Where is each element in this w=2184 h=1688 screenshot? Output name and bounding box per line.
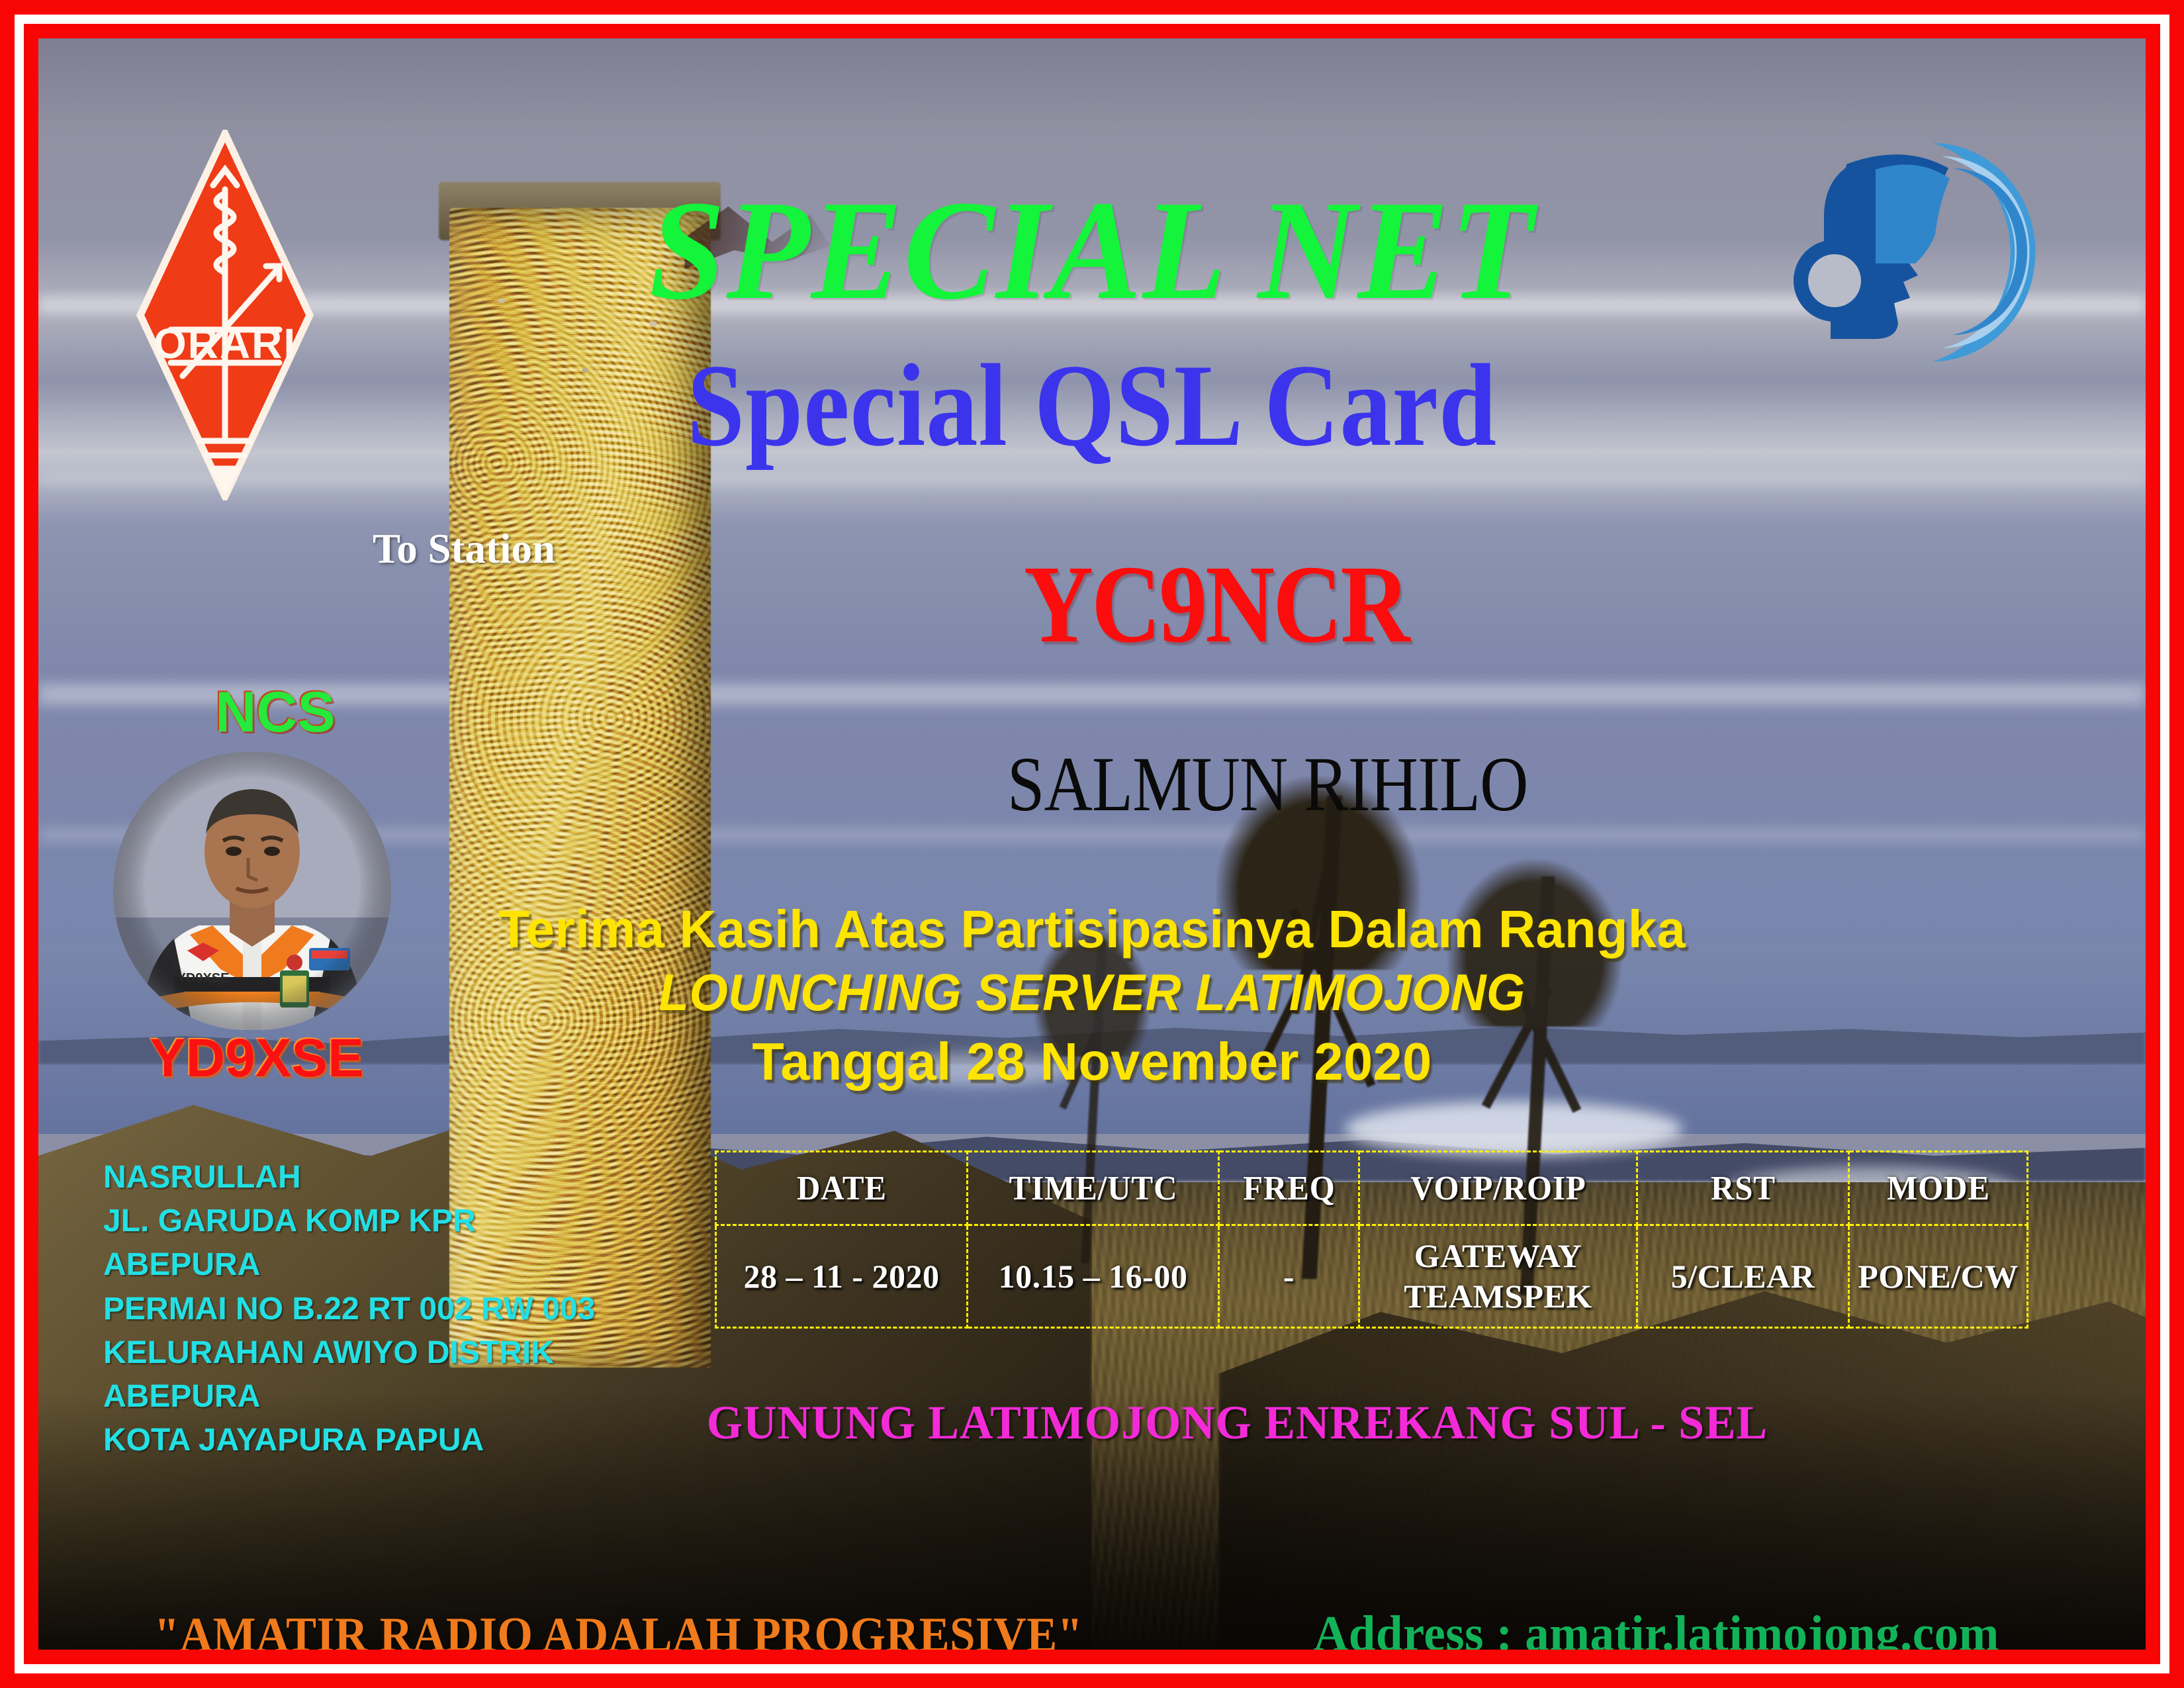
- cell-freq: -: [1219, 1225, 1359, 1328]
- address-line: KOTA JAYAPURA PAPUA: [103, 1419, 595, 1462]
- motto-text: "AMATIR RADIO ADALAH PROGRESIVE": [154, 1611, 1083, 1650]
- event-line-2: LOUNCHING SERVER LATIMOJONG: [81, 959, 2104, 1026]
- ncs-badge-label: NCS: [176, 684, 375, 741]
- cell-time: 10.15 – 16-00: [968, 1225, 1219, 1328]
- ncs-operator-photo: YD9XSE: [113, 752, 391, 1030]
- cell-rst: 5/CLEAR: [1637, 1225, 1849, 1328]
- address-line: ABEPURA: [103, 1243, 595, 1287]
- website-address: Address : amatir.latimojong.com: [1314, 1609, 1999, 1650]
- address-line: ABEPURA: [103, 1375, 595, 1419]
- page-title: SPECIAL NET: [81, 179, 2104, 321]
- location-caption: GUNUNG LATIMOJONG ENREKANG SUL - SEL: [707, 1399, 1768, 1446]
- ncs-callsign: YD9XSE: [118, 1031, 396, 1086]
- col-header-mode: MODE: [1854, 1152, 2023, 1225]
- address-block: NASRULLAH JL. GARUDA KOMP KPR ABEPURA PE…: [103, 1156, 595, 1463]
- qso-log-table: DATE TIME/UTC FREQ VOIP/ROIP RST MODE 28…: [715, 1150, 2028, 1329]
- operator-name: SALMUN RIHILO: [1007, 745, 1528, 823]
- to-station-label: To Station: [373, 528, 555, 570]
- col-header-freq: FREQ: [1223, 1152, 1355, 1225]
- cloud-streak: [38, 473, 2146, 485]
- address-line: NASRULLAH: [103, 1156, 595, 1199]
- col-header-time: TIME/UTC: [975, 1152, 1211, 1225]
- cell-voip-roip: GATEWAYTEAMSPEK: [1359, 1225, 1637, 1328]
- col-header-date: DATE: [723, 1152, 960, 1225]
- address-line: KELURAHAN AWIYO DISTRIK: [103, 1331, 595, 1375]
- table-header-row: DATE TIME/UTC FREQ VOIP/ROIP RST MODE: [716, 1152, 2028, 1225]
- station-callsign: YC9NCR: [1024, 549, 1408, 660]
- card-background-photo: ORARI SPECIAL NET Special QSL Card To St…: [38, 38, 2146, 1650]
- cell-mode: PONE/CW: [1849, 1225, 2028, 1328]
- col-header-rst: RST: [1643, 1152, 1843, 1225]
- address-line: PERMAI NO B.22 RT 002 RW 003: [103, 1288, 595, 1331]
- col-header-voip-roip: VOIP/ROIP: [1367, 1152, 1629, 1225]
- address-line: JL. GARUDA KOMP KPR: [103, 1199, 595, 1243]
- table-row: 28 – 11 - 2020 10.15 – 16-00 - GATEWAYTE…: [716, 1225, 2028, 1328]
- qsl-card-frame: ORARI SPECIAL NET Special QSL Card To St…: [0, 0, 2184, 1688]
- cell-date: 28 – 11 - 2020: [716, 1225, 968, 1328]
- page-subtitle: Special QSL Card: [165, 346, 2019, 464]
